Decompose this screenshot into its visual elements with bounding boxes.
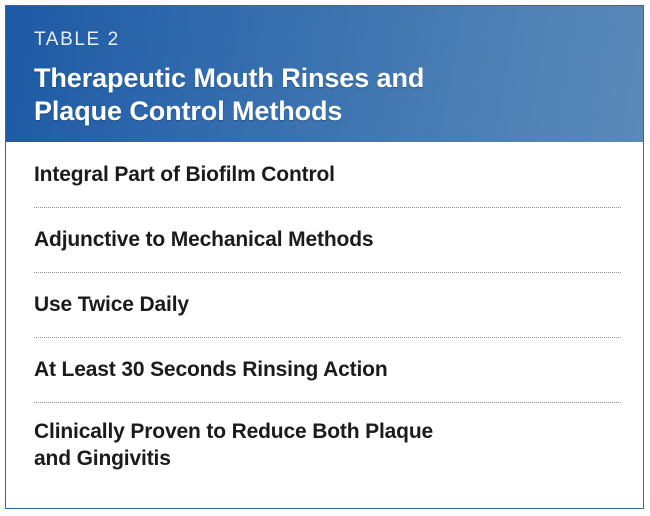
table-title: Therapeutic Mouth Rinses and Plaque Cont… xyxy=(34,62,643,128)
table-row-line: Adjunctive to Mechanical Methods xyxy=(34,226,373,253)
table-row-line: Integral Part of Biofilm Control xyxy=(34,161,335,188)
table-body: Integral Part of Biofilm Control Adjunct… xyxy=(6,142,643,497)
table-row-text: Use Twice Daily xyxy=(34,291,189,318)
table-row-line: Clinically Proven to Reduce Both Plaque xyxy=(34,418,433,445)
table-number-label: TABLE 2 xyxy=(34,30,643,49)
table-row-line: Use Twice Daily xyxy=(34,291,189,318)
table-row-text: At Least 30 Seconds Rinsing Action xyxy=(34,356,388,383)
table-card: TABLE 2 Therapeutic Mouth Rinses and Pla… xyxy=(5,5,644,509)
table-row-text: Clinically Proven to Reduce Both Plaque … xyxy=(34,418,433,473)
table-row: Use Twice Daily xyxy=(34,272,621,337)
table-title-line-2: Plaque Control Methods xyxy=(34,95,643,128)
table-row-text: Adjunctive to Mechanical Methods xyxy=(34,226,373,253)
table-row: At Least 30 Seconds Rinsing Action xyxy=(34,337,621,402)
table-row: Adjunctive to Mechanical Methods xyxy=(34,207,621,272)
table-row-line: and Gingivitis xyxy=(34,445,433,472)
table-row: Clinically Proven to Reduce Both Plaque … xyxy=(34,402,621,497)
table-row: Integral Part of Biofilm Control xyxy=(34,142,621,207)
table-header: TABLE 2 Therapeutic Mouth Rinses and Pla… xyxy=(6,6,643,142)
table-row-text: Integral Part of Biofilm Control xyxy=(34,161,335,188)
table-row-line: At Least 30 Seconds Rinsing Action xyxy=(34,356,388,383)
table-title-line-1: Therapeutic Mouth Rinses and xyxy=(34,62,643,95)
